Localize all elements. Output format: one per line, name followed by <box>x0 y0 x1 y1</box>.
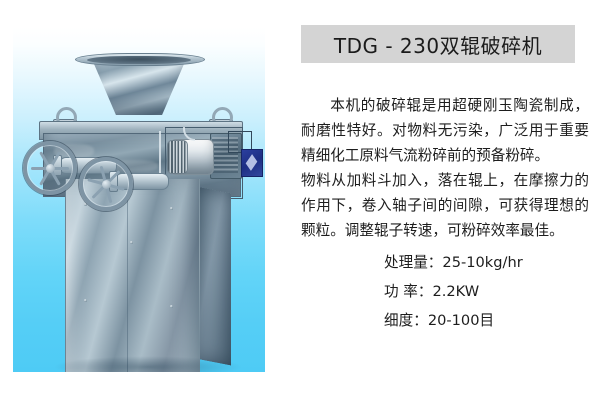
page-root: TDG - 230双辊破碎机 本机的破碎辊是用超硬刚玉陶瓷制成，耐磨性特好。对物… <box>0 0 600 400</box>
spec-label-capacity: 处理量 <box>384 254 428 271</box>
handwheel-hub <box>46 164 55 173</box>
adjustment-handwheel-right-icon <box>79 157 133 211</box>
description-block: 本机的破碎辊是用超硬刚玉陶瓷制成，耐磨性特好。对物料无污染，广泛用于重要精细化工… <box>301 93 589 243</box>
spec-separator: ： <box>418 283 433 300</box>
page-title: TDG - 230双辊破碎机 <box>301 25 575 63</box>
spec-separator: ： <box>413 312 428 329</box>
spec-value-power: 2.2KW <box>432 283 479 300</box>
spec-label-fineness: 细度 <box>384 312 413 329</box>
title-band: TDG - 230双辊破碎机 <box>301 25 575 63</box>
photo-stage <box>13 27 265 372</box>
blue-nameplate <box>241 149 263 177</box>
spec-value-fineness: 20-100目 <box>428 312 494 329</box>
pedestal-rivet <box>170 207 173 210</box>
pedestal-rivet <box>170 305 173 308</box>
spec-row-fineness: 细度：20-100目 <box>384 306 523 335</box>
specification-list: 处理量：25-10kg/hr 功 率：2.2KW 细度：20-100目 <box>384 248 523 335</box>
floor-shadow <box>53 356 243 372</box>
spec-row-capacity: 处理量：25-10kg/hr <box>384 248 523 277</box>
spec-label-power: 功 率 <box>384 283 418 300</box>
pedestal-side-panel <box>198 187 231 365</box>
spec-separator: ： <box>428 254 443 271</box>
pedestal-rivet <box>84 299 87 302</box>
description-paragraph-1: 本机的破碎辊是用超硬刚玉陶瓷制成，耐磨性特好。对物料无污染，广泛用于重要精细化工… <box>301 93 589 168</box>
pedestal-rivet <box>130 241 133 244</box>
stainless-pedestal <box>65 179 200 372</box>
hopper-opening-icon <box>87 56 191 64</box>
spec-value-capacity: 25-10kg/hr <box>442 254 522 271</box>
handwheel-hub <box>102 180 111 189</box>
adjustment-handwheel-left-icon <box>23 141 77 195</box>
product-photo <box>13 27 265 372</box>
description-paragraph-2: 物料从加料斗加入，落在辊上，在摩擦力的作用下，卷入轴子间的间隙，可获得理想的颗粒… <box>301 168 589 243</box>
spec-row-power: 功 率：2.2KW <box>384 277 523 306</box>
